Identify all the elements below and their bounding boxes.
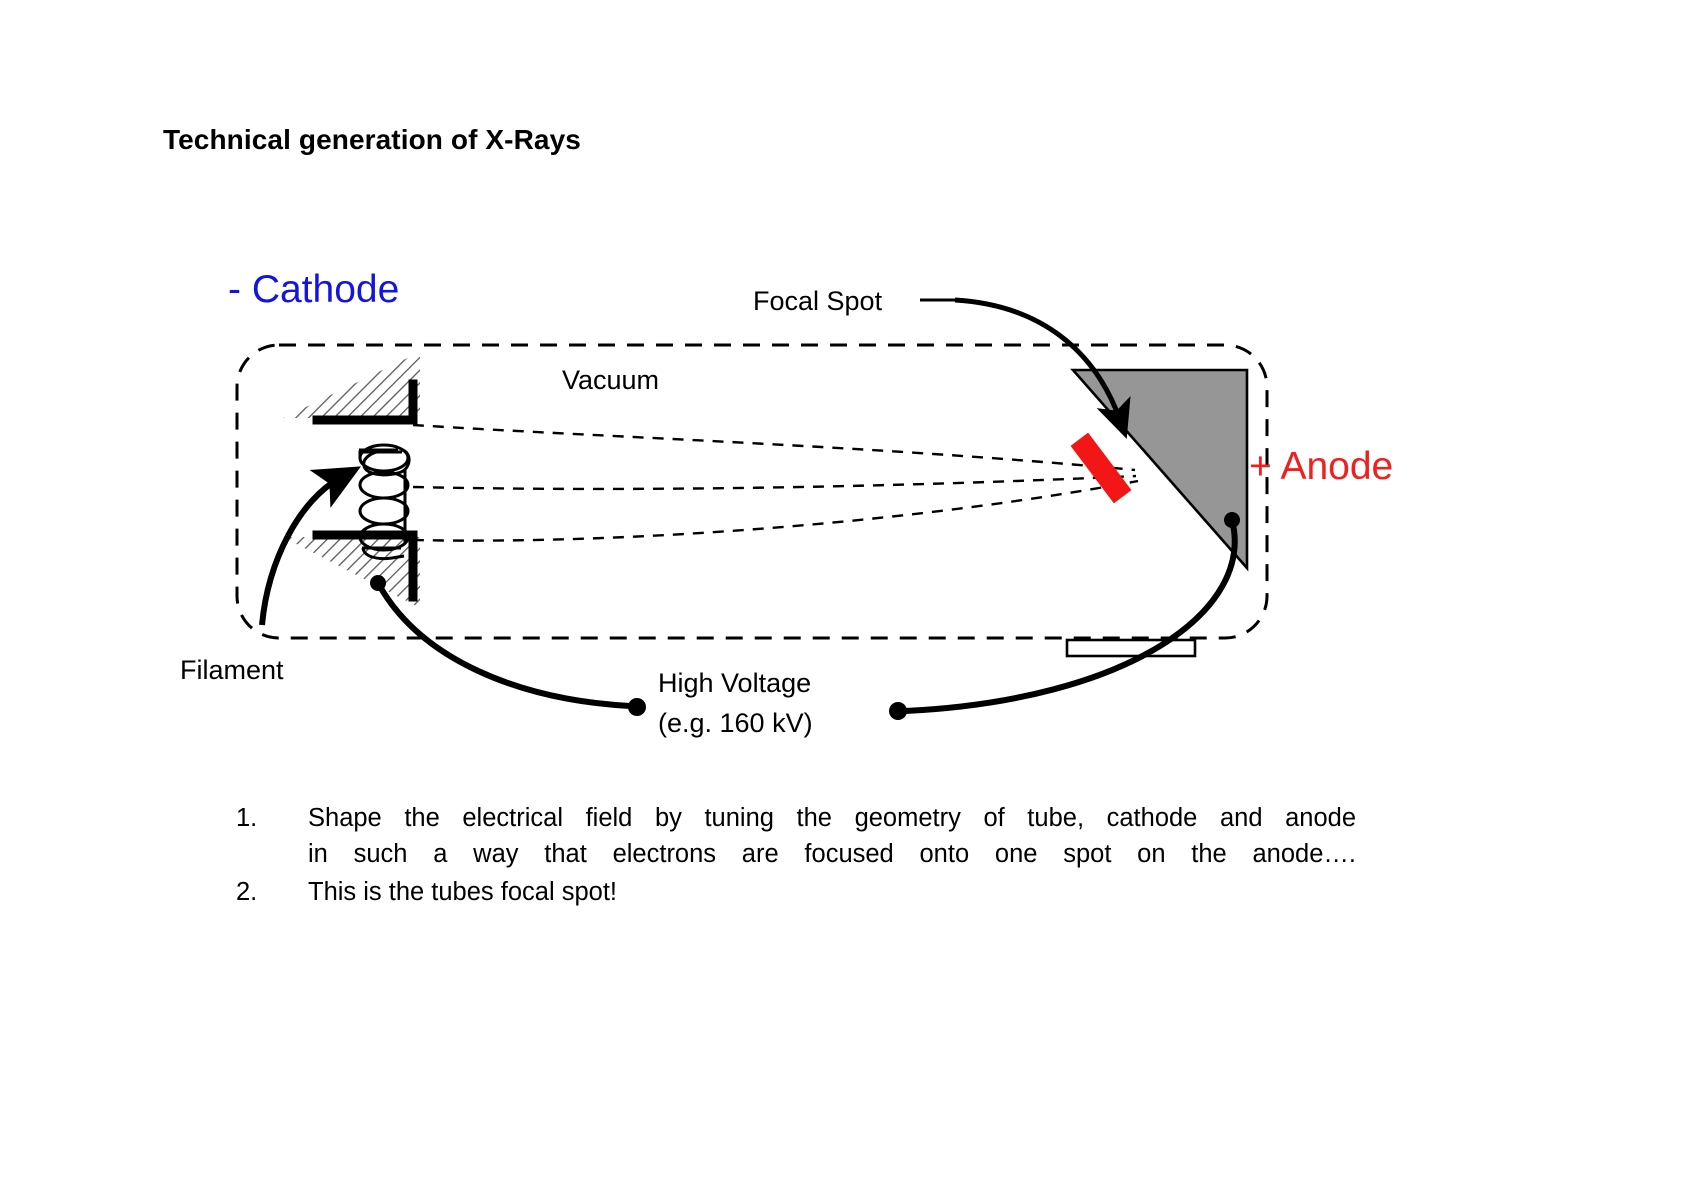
anode-base [1067,640,1195,656]
list-item-text: Shape the electrical field by tuning the… [308,800,1356,872]
high-voltage-label-line2: (e.g. 160 kV) [658,708,813,739]
list-item-text: This is the tubes focal spot! [308,874,1356,910]
hv-terminal-anode [1224,512,1240,528]
focal-spot-label: Focal Spot [753,286,882,317]
cathode-label: - Cathode [228,268,399,312]
cathode-cup-top [283,352,420,420]
hv-terminal-cathode [370,575,386,591]
electron-beam-paths [413,425,1138,541]
diagram-svg [0,0,1684,1190]
hv-dot-anode [889,702,907,720]
list-item: 1. Shape the electrical field by tuning … [236,800,1356,872]
numbered-list: 1. Shape the electrical field by tuning … [236,800,1356,913]
high-voltage-label-line1: High Voltage [658,668,811,699]
list-item: 2. This is the tubes focal spot! [236,874,1356,910]
list-item-line1: Shape the electrical field by tuning the… [308,800,1356,836]
electron-beam-middle [413,476,1136,489]
hv-wire-anode [905,520,1235,711]
list-item-number: 1. [236,800,308,836]
slide-canvas: Technical generation of X-Rays [0,0,1684,1190]
vacuum-label: Vacuum [562,365,659,396]
electron-beam-bottom [413,481,1138,541]
electron-beam-top [413,425,1135,470]
anode-label: + Anode [1249,445,1393,489]
list-item-number: 2. [236,874,308,910]
hv-dot-cathode [628,698,646,716]
focal-spot-arrow [955,300,1120,420]
list-item-line2: in such a way that electrons are focused… [308,836,1356,872]
filament-label: Filament [180,655,284,686]
